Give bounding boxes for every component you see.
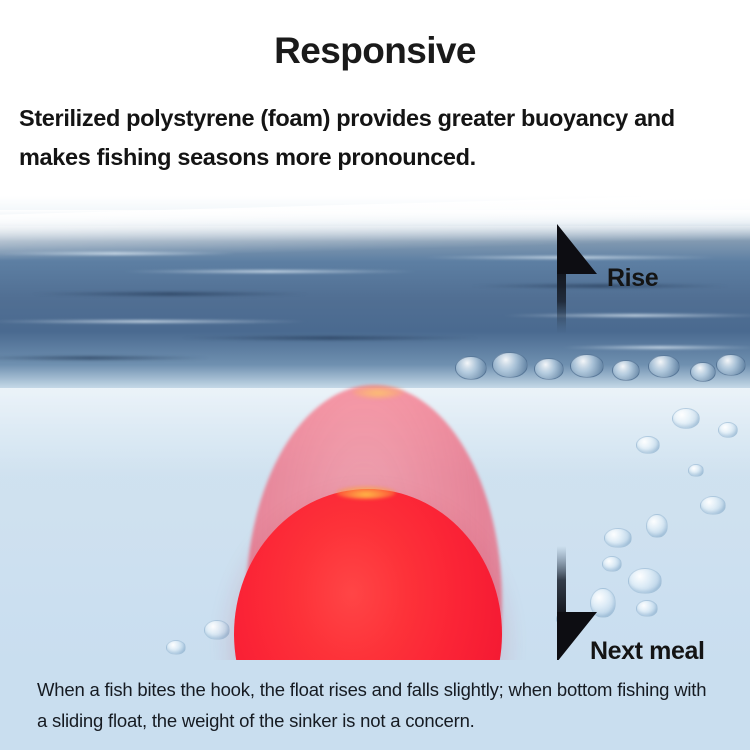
ripple bbox=[500, 314, 750, 317]
ripple bbox=[0, 252, 240, 255]
arrow-label-rise: Rise bbox=[607, 264, 658, 293]
bubble bbox=[166, 640, 186, 655]
bubble bbox=[690, 362, 716, 382]
bubble bbox=[492, 352, 528, 378]
header-block: Responsive Sterilized polystyrene (foam)… bbox=[0, 0, 750, 196]
footer-caption: When a fish bites the hook, the float ri… bbox=[37, 674, 721, 736]
product-feature-card: Rise Next meal Responsive Sterilized pol… bbox=[0, 0, 750, 750]
bubble bbox=[646, 514, 668, 538]
header-subtitle: Sterilized polystyrene (foam) provides g… bbox=[19, 99, 735, 177]
bubble bbox=[204, 620, 230, 640]
bubble bbox=[636, 600, 658, 617]
bubble bbox=[648, 355, 680, 378]
ripple bbox=[120, 270, 420, 273]
bubble bbox=[716, 354, 746, 376]
footer-block: When a fish bites the hook, the float ri… bbox=[0, 660, 750, 750]
bubble bbox=[718, 422, 738, 438]
float-ghost-cap-icon bbox=[352, 386, 404, 398]
bubble bbox=[688, 464, 704, 477]
bubble bbox=[602, 556, 622, 572]
bubble bbox=[628, 568, 662, 594]
bubble bbox=[570, 354, 604, 378]
bubble bbox=[455, 356, 487, 380]
bubble bbox=[700, 496, 726, 515]
ripple bbox=[560, 346, 750, 349]
arrow-up-icon bbox=[552, 222, 604, 334]
bubble bbox=[612, 360, 640, 381]
bubble bbox=[636, 436, 660, 454]
page-title: Responsive bbox=[0, 28, 750, 74]
ripple bbox=[30, 292, 310, 296]
bubble bbox=[604, 528, 632, 548]
ripple bbox=[180, 336, 480, 340]
bubble bbox=[672, 408, 700, 429]
bubble bbox=[534, 358, 564, 380]
